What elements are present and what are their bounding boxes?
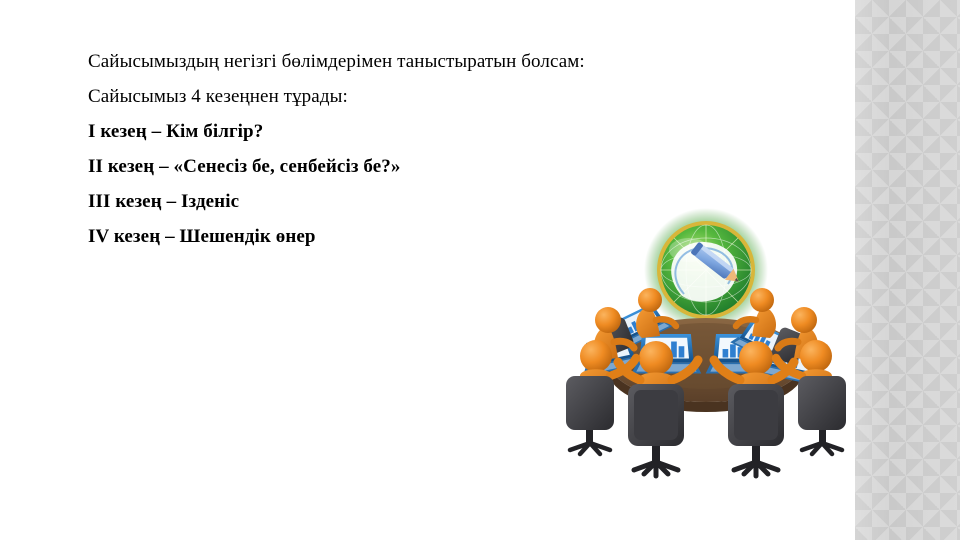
chair-right bbox=[798, 376, 846, 454]
body-line-1: Сайысымыздың негізгі бөлімдерімен таныст… bbox=[88, 44, 728, 79]
slide-canvas: Сайысымыздың негізгі бөлімдерімен таныст… bbox=[0, 0, 960, 540]
body-line-2: Сайысымыз 4 кезеңнен тұрады: bbox=[88, 79, 728, 114]
meeting-illustration bbox=[556, 208, 856, 483]
body-line-3: І кезең – Кім білгір? bbox=[88, 114, 728, 149]
chair-left bbox=[566, 376, 614, 454]
globe-graphic bbox=[644, 208, 768, 332]
side-pattern-strip bbox=[855, 0, 960, 540]
chair-front-right bbox=[728, 384, 784, 476]
chair-front-left bbox=[628, 384, 684, 476]
body-line-4: ІІ кезең – «Сенесіз бе, сенбейсіз бе?» bbox=[88, 149, 728, 184]
